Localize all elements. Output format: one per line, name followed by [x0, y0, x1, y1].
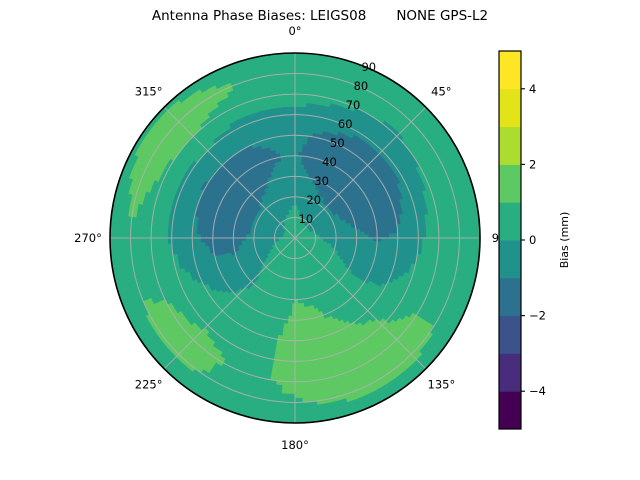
colorbar-tick--2: −2: [529, 309, 546, 323]
colorbar-band-9: [499, 51, 521, 89]
colorbar-tick-0: 0: [529, 233, 536, 247]
colorbar-tick--4: −4: [529, 384, 546, 398]
colorbar-band-5: [499, 202, 521, 240]
colorbar[interactable]: −4−2024: [0, 0, 640, 480]
colorbar-tick-2: 2: [529, 157, 536, 171]
colorbar-band-3: [499, 278, 521, 316]
colorbar-band-0: [499, 391, 521, 429]
colorbar-band-4: [499, 240, 521, 278]
colorbar-band-7: [499, 127, 521, 165]
colorbar-band-2: [499, 316, 521, 354]
figure-canvas: Antenna Phase Biases: LEIGS08 NONE GPS-L…: [0, 0, 640, 480]
colorbar-band-8: [499, 89, 521, 127]
colorbar-label: Bias (mm): [558, 212, 571, 269]
colorbar-band-6: [499, 164, 521, 202]
colorbar-band-1: [499, 353, 521, 391]
colorbar-tick-4: 4: [529, 82, 536, 96]
